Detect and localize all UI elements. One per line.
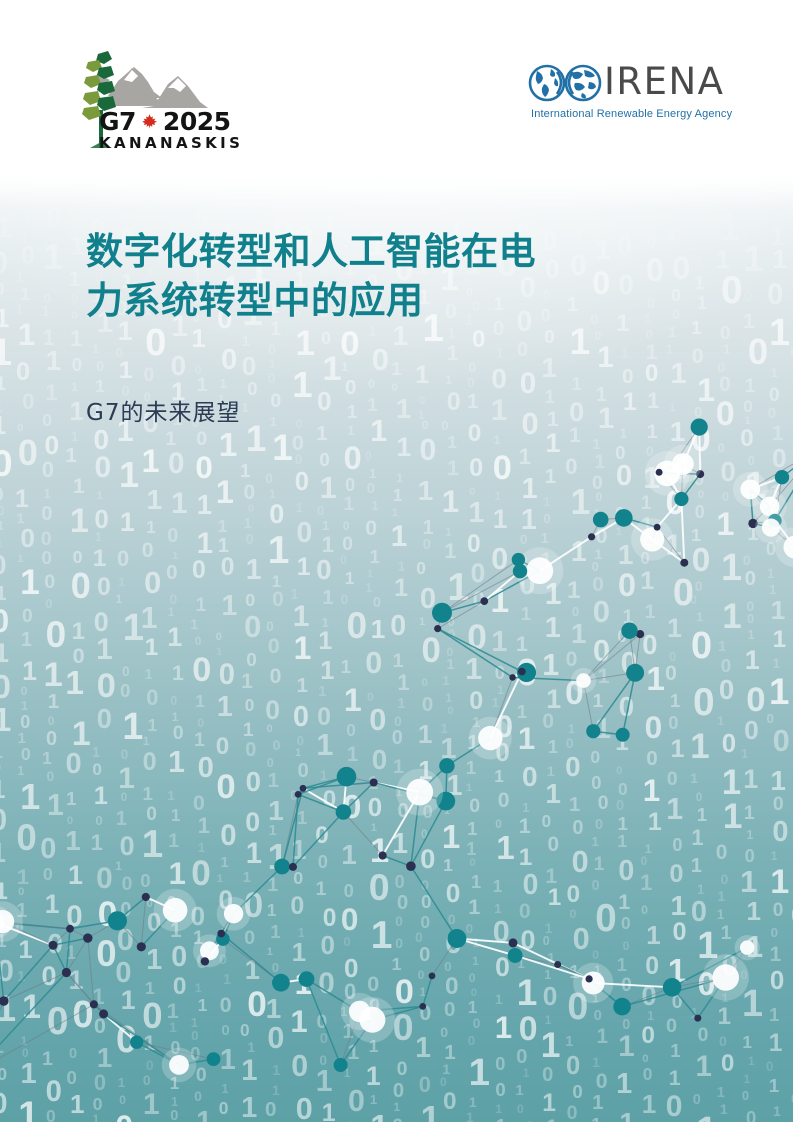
page-title: 数字化转型和人工智能在电力系统转型中的应用 <box>86 228 646 326</box>
page-subtitle: G7的未来展望 <box>86 399 240 429</box>
irena-globe-icon <box>527 62 603 104</box>
document-cover-page: 1100111110001101010110101111011001001011… <box>0 0 793 1122</box>
irena-wordmark: IRENA <box>604 63 725 100</box>
header-band: G7 2025 KANANASKIS <box>0 0 793 175</box>
page-title-line-2: 力系统转型中的应用 <box>86 279 424 322</box>
irena-logo: IRENA International Renewable Energy Age… <box>527 62 742 124</box>
g7-wordmark: G7 2025 <box>99 109 231 134</box>
g7-location-label: KANANASKIS <box>99 136 243 151</box>
page-title-line-1: 数字化转型和人工智能在电 <box>86 230 536 273</box>
g7-year-label: 2025 <box>163 109 231 134</box>
irena-tagline: International Renewable Energy Agency <box>531 109 732 120</box>
g7-summit-label: G7 <box>99 109 136 134</box>
title-block: 数字化转型和人工智能在电力系统转型中的应用 <box>86 228 646 326</box>
maple-leaf-icon <box>141 113 158 130</box>
g7-kananaskis-logo: G7 2025 KANANASKIS <box>68 48 238 156</box>
